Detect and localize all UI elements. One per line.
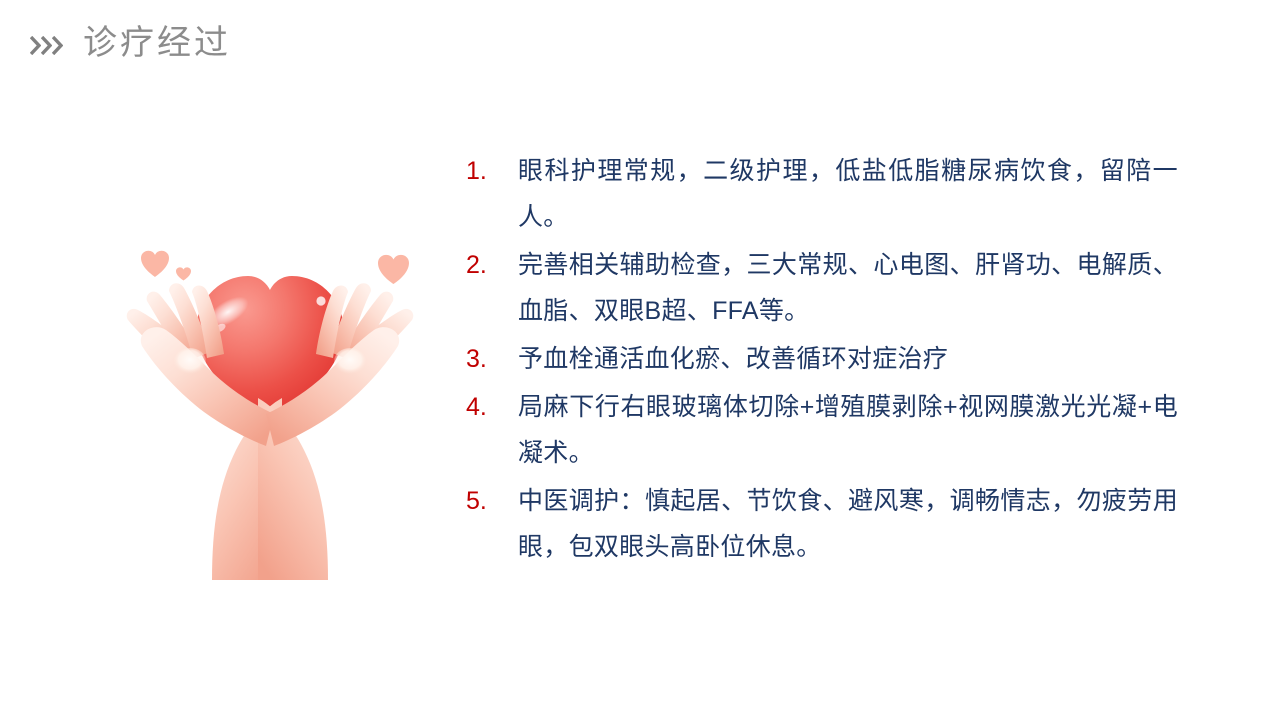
triple-chevron-right-icon [30, 36, 63, 55]
accent-heart-dot-left [176, 267, 191, 280]
accent-heart-small-right [378, 255, 409, 284]
list-item: 5. 中医调护：慎起居、节饮食、避风寒，调畅情志，勿疲劳用眼，包双眼头高卧位休息… [466, 478, 1178, 570]
list-item-number: 1. [466, 148, 518, 194]
list-item: 3. 予血栓通活血化瘀、改善循环对症治疗 [466, 336, 1178, 382]
list-item-number: 3. [466, 336, 518, 382]
list-item-text: 予血栓通活血化瘀、改善循环对症治疗 [518, 336, 1178, 382]
list-item: 1. 眼科护理常规，二级护理，低盐低脂糖尿病饮食，留陪一人。 [466, 148, 1178, 240]
slide-header: 诊疗经过 [30, 18, 231, 68]
list-item-number: 5. [466, 478, 518, 524]
page-title: 诊疗经过 [83, 26, 231, 60]
slide-canvas: 诊疗经过 [0, 0, 1280, 720]
accent-heart-small-left [141, 251, 169, 277]
list-item: 4. 局麻下行右眼玻璃体切除+增殖膜剥除+视网膜激光光凝+电凝术。 [466, 384, 1178, 476]
list-item-text: 眼科护理常规，二级护理，低盐低脂糖尿病饮食，留陪一人。 [518, 148, 1178, 240]
list-item-number: 4. [466, 384, 518, 430]
list-item-text: 局麻下行右眼玻璃体切除+增殖膜剥除+视网膜激光光凝+电凝术。 [518, 384, 1178, 476]
hands-holding-heart-illustration [100, 228, 440, 600]
list-item: 2. 完善相关辅助检查，三大常规、心电图、肝肾功、电解质、血脂、双眼B超、FFA… [466, 242, 1178, 334]
list-item-text: 中医调护：慎起居、节饮食、避风寒，调畅情志，勿疲劳用眼，包双眼头高卧位休息。 [518, 478, 1178, 570]
list-item-text: 完善相关辅助检查，三大常规、心电图、肝肾功、电解质、血脂、双眼B超、FFA等。 [518, 242, 1178, 334]
list-item-number: 2. [466, 242, 518, 288]
treatment-steps-list: 1. 眼科护理常规，二级护理，低盐低脂糖尿病饮食，留陪一人。 2. 完善相关辅助… [466, 148, 1178, 572]
